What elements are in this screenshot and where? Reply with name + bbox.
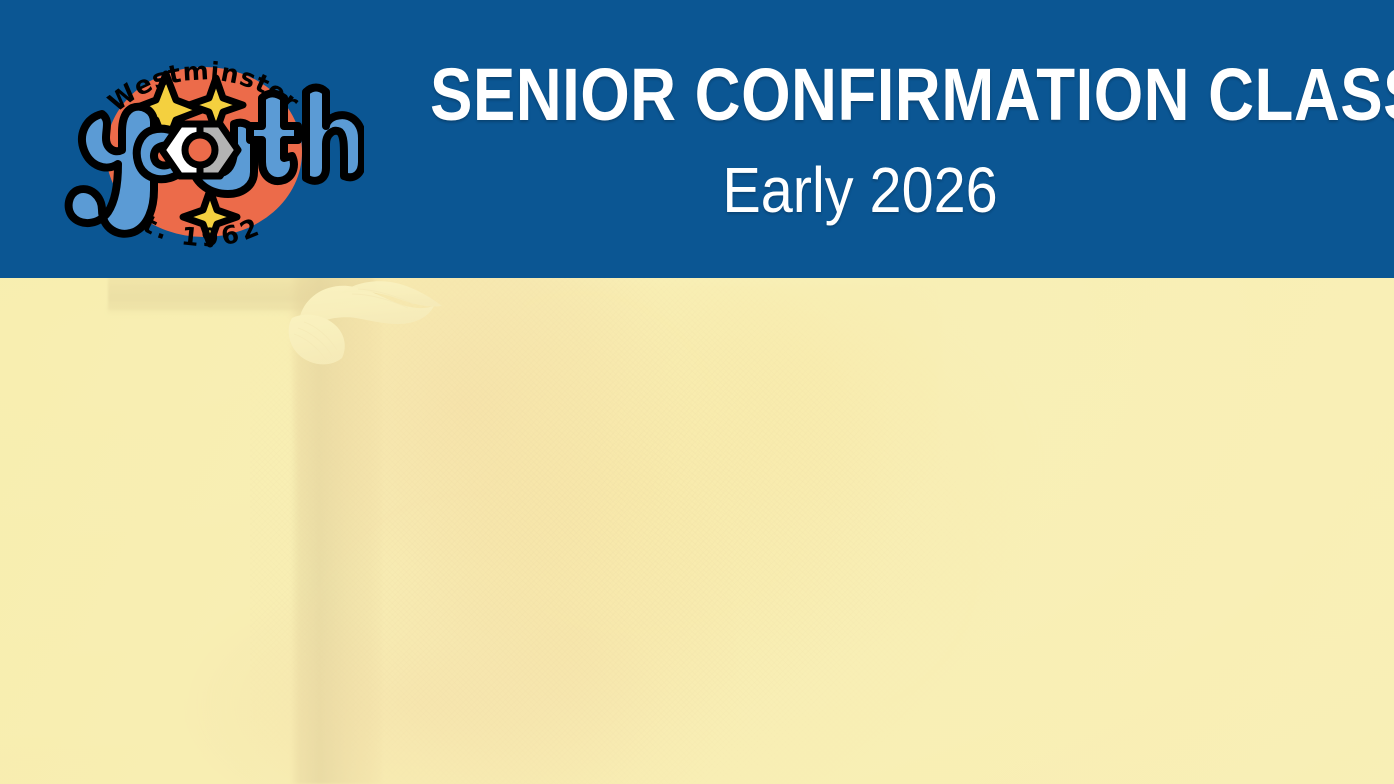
slide-canvas: Westminster est. 1962 bbox=[0, 0, 1394, 784]
page-title: SENIOR CONFIRMATION CLASS bbox=[430, 58, 1290, 132]
westminster-youth-logo: Westminster est. 1962 bbox=[44, 22, 364, 270]
title-block: SENIOR CONFIRMATION CLASS Early 2026 bbox=[360, 0, 1360, 278]
header-banner: Westminster est. 1962 bbox=[0, 0, 1394, 278]
hex-nut-icon bbox=[162, 124, 238, 176]
page-subtitle: Early 2026 bbox=[410, 158, 1310, 222]
